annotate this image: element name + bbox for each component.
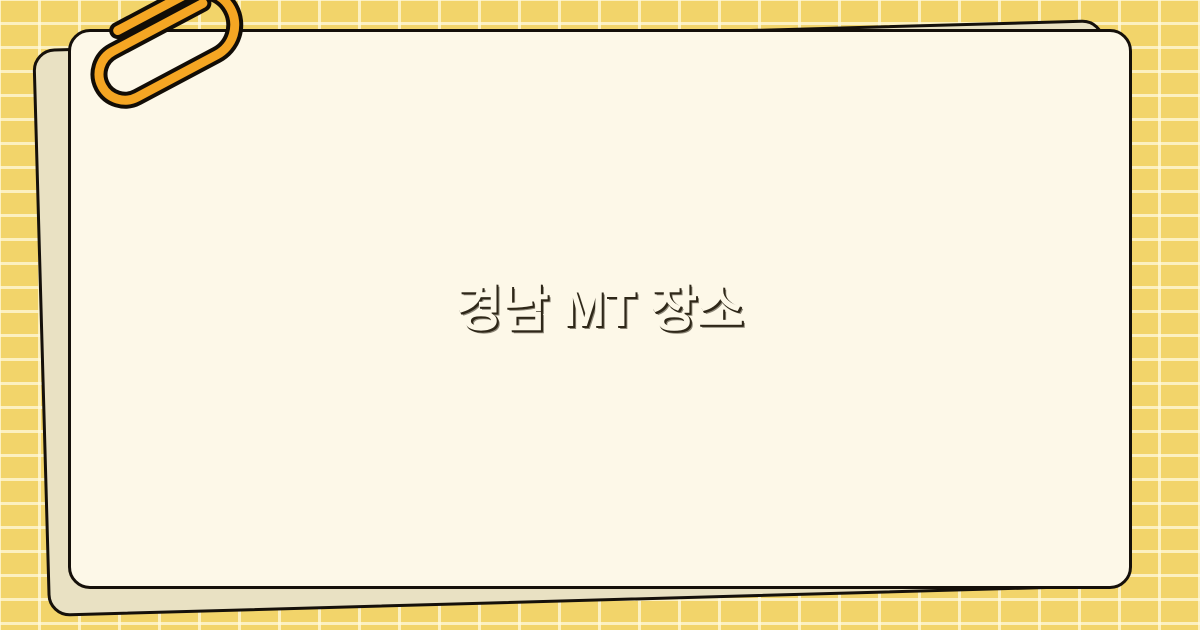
- page-root: 경남 MT 장소: [0, 0, 1200, 630]
- page-title: 경남 MT 장소: [386, 278, 814, 341]
- note-card: 경남 MT 장소: [68, 29, 1132, 589]
